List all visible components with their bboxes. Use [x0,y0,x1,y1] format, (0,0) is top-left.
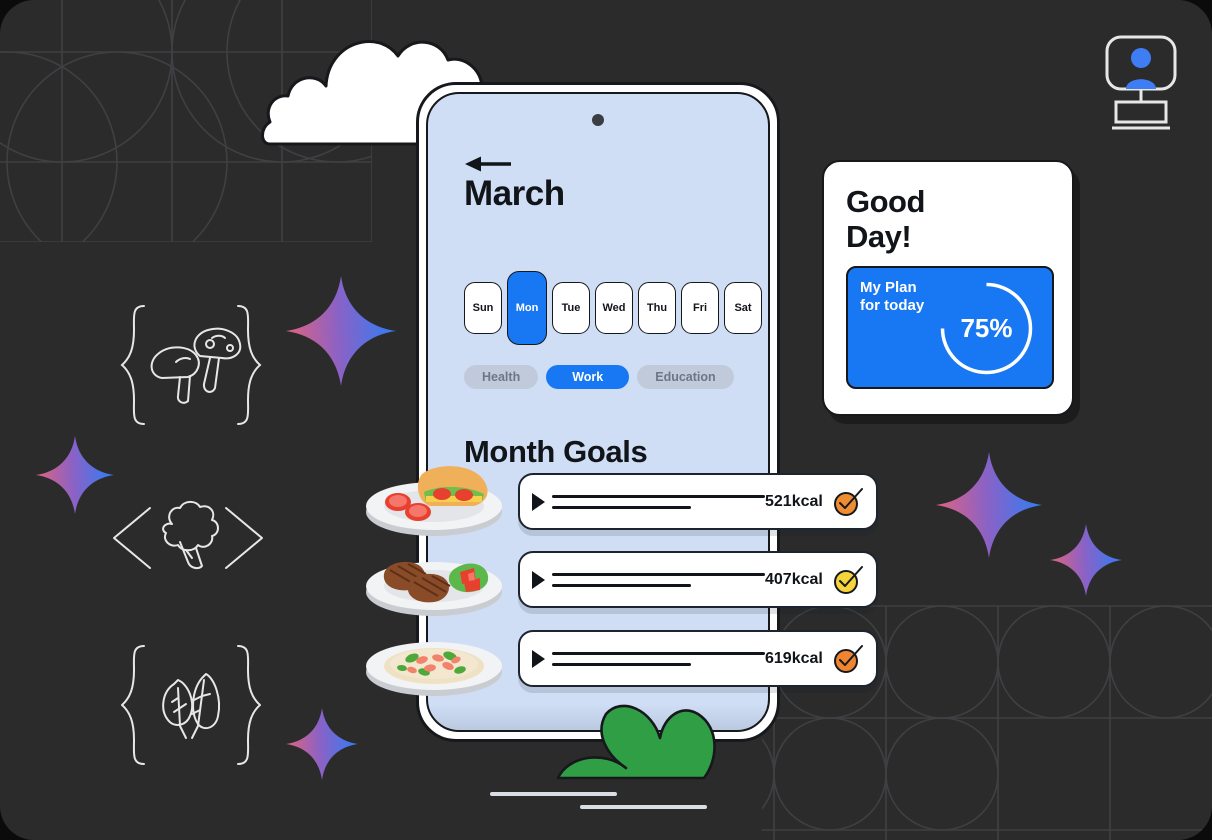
goal-text-placeholder [552,495,765,509]
day-label: Tue [562,302,581,314]
sparkle-icon [1050,524,1122,596]
goal-calories: 407kcal [765,571,823,589]
back-arrow-icon[interactable] [465,155,511,173]
illustration-canvas: March Sun Mon Tue Wed Thu Fri Sat Health… [0,0,1212,840]
good-day-title: Good Day! [846,184,1050,254]
day-chip-wed[interactable]: Wed [595,282,633,334]
month-title: March [464,174,565,214]
spinach-leaves-icon [118,640,264,770]
day-label: Sun [473,302,494,314]
day-label: Sat [734,302,751,314]
check-badge[interactable] [833,487,863,517]
goal-text-placeholder [552,573,765,587]
camera-dot-icon [592,114,604,126]
check-badge[interactable] [833,644,863,674]
goal-calories: 521kcal [765,493,823,511]
play-triangle-icon [532,650,545,668]
day-chip-sat[interactable]: Sat [724,282,762,334]
presenter-monitor-icon[interactable] [1104,34,1178,132]
tab-health[interactable]: Health [464,365,538,389]
day-chip-tue[interactable]: Tue [552,282,590,334]
decorative-grid-top-left [0,0,372,242]
decorative-line [580,805,707,809]
day-label: Fri [693,302,707,314]
sparkle-icon [286,276,396,386]
goal-row[interactable]: 521kcal [518,473,878,530]
day-chip-fri[interactable]: Fri [681,282,719,334]
good-day-card: Good Day! My Plan for today 75% [822,160,1074,416]
mushrooms-icon [118,300,264,430]
day-label: Thu [647,302,667,314]
broccoli-icon [110,490,266,586]
day-chip-sun[interactable]: Sun [464,282,502,334]
play-triangle-icon [532,571,545,589]
goal-text-placeholder [552,652,765,666]
day-label: Wed [602,302,625,314]
day-chip-thu[interactable]: Thu [638,282,676,334]
sparkle-icon [936,452,1042,558]
goal-row[interactable]: 619kcal [518,630,878,687]
goal-row[interactable]: 407kcal [518,551,878,608]
sparkle-icon [286,708,358,780]
my-plan-panel[interactable]: My Plan for today 75% [846,266,1054,389]
sparkle-icon [36,436,114,514]
progress-ring: 75% [934,276,1039,386]
check-badge[interactable] [833,565,863,595]
play-triangle-icon [532,493,545,511]
decorative-line [490,792,617,796]
day-chip-mon[interactable]: Mon [507,271,547,345]
goal-calories: 619kcal [765,650,823,668]
category-tabs[interactable]: Health Work Education [464,365,734,389]
tab-work[interactable]: Work [546,365,629,389]
goals-section-title: Month Goals [464,434,647,470]
tab-education[interactable]: Education [637,365,733,389]
day-label: Mon [516,302,539,314]
progress-percent: 75% [934,276,1039,381]
day-selector[interactable]: Sun Mon Tue Wed Thu Fri Sat [464,271,762,345]
my-plan-label: My Plan for today [860,279,924,316]
